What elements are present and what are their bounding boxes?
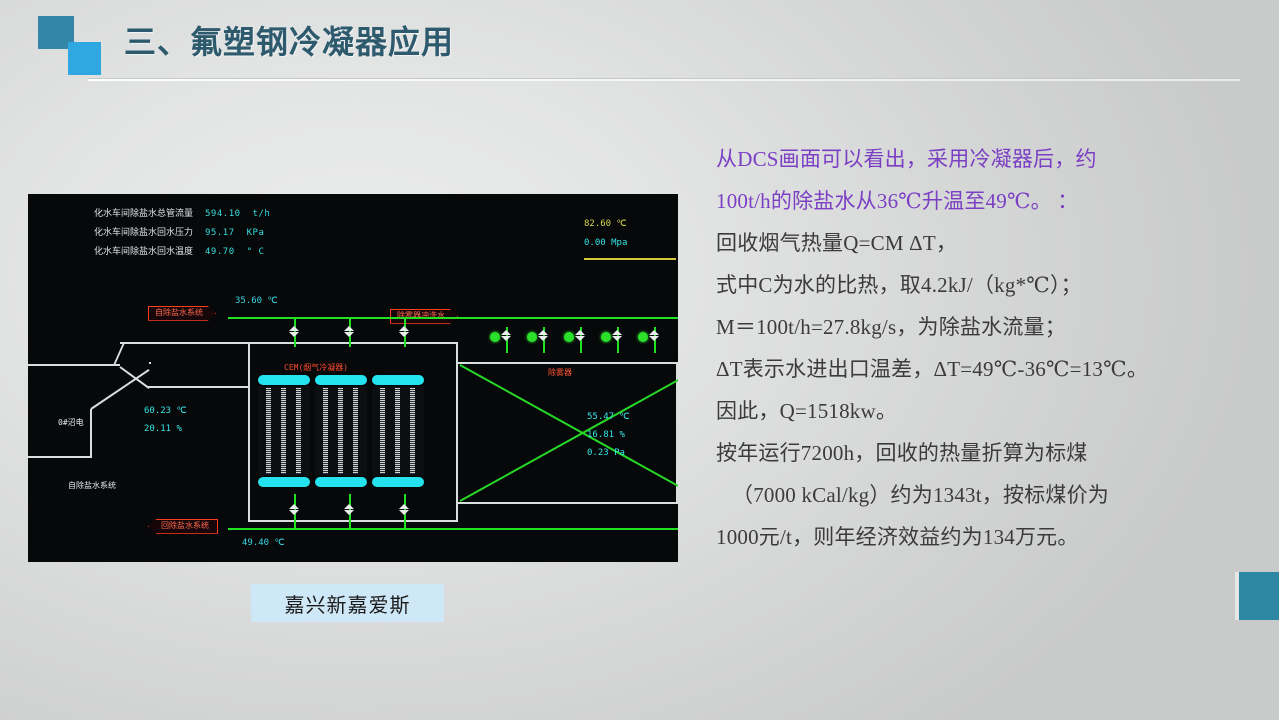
dcs-readout-flow: 化水车间除盐水总管流量 594.10 t/h bbox=[94, 206, 270, 219]
demister-cross-line bbox=[460, 364, 678, 487]
header-divider bbox=[88, 78, 1240, 81]
body-line: ΔT表示水进出口温差，ΔT=49℃-36℃=13℃。 bbox=[716, 348, 1256, 390]
duct-line bbox=[248, 342, 458, 344]
tube-bundle bbox=[372, 386, 424, 476]
image-caption-text: 嘉兴新嘉爱斯 bbox=[285, 589, 411, 618]
dcs-diagram: 化水车间除盐水总管流量 594.10 t/h 化水车间除盐水回水压力 95.17… bbox=[28, 194, 678, 562]
dcs-top-right-pressure: 0.00 Mpa bbox=[584, 239, 627, 248]
valve-icon bbox=[612, 330, 623, 341]
tube-bundle bbox=[258, 386, 310, 476]
dcs-readout-pressure-value: 95.17 bbox=[205, 228, 235, 238]
status-dot-icon bbox=[601, 332, 611, 342]
dcs-readout-pressure-unit: KPa bbox=[247, 228, 265, 238]
dcs-left-percent-unit: % bbox=[177, 424, 182, 434]
demister-cross-line bbox=[460, 379, 678, 502]
dcs-readout-temperature-unit: ° C bbox=[247, 247, 265, 257]
body-line: 式中C为水的比热，取4.2kJ/（kg*℃）； bbox=[716, 264, 1256, 306]
duct-line bbox=[113, 342, 126, 366]
duct-line bbox=[456, 342, 458, 522]
dcs-right-percent: 16.81 % bbox=[587, 431, 625, 440]
body-text-block: 从DCS画面可以看出，采用冷凝器后，约 100t/h的除盐水从36℃升温至49℃… bbox=[716, 138, 1256, 558]
condenser-footer-bar bbox=[372, 477, 424, 487]
body-line: 因此，Q=1518kw。 bbox=[716, 390, 1256, 432]
tag-inlet-from-demin: 自除盐水系统 bbox=[148, 306, 216, 321]
valve-icon bbox=[289, 504, 300, 515]
dcs-left-percent-value: 20.11 bbox=[144, 424, 171, 434]
body-line: M＝100t/h=27.8kg/s，为除盐水流量； bbox=[716, 306, 1256, 348]
status-dot-icon bbox=[490, 332, 500, 342]
duct-line bbox=[28, 364, 120, 366]
valve-icon bbox=[538, 330, 549, 341]
dcs-screenshot-image: 化水车间除盐水总管流量 594.10 t/h 化水车间除盐水回水压力 95.17… bbox=[28, 194, 678, 562]
valve-icon bbox=[399, 326, 410, 337]
dcs-right-pressure-unit: Pa bbox=[614, 448, 625, 458]
valve-icon bbox=[501, 330, 512, 341]
duct-line bbox=[90, 409, 92, 457]
body-line: 回收烟气热量Q=CM ΔT， bbox=[716, 222, 1256, 264]
body-line: 1000元/t，则年经济效益约为134万元。 bbox=[716, 516, 1256, 558]
dcs-right-temp-value: 55.47 bbox=[587, 412, 614, 422]
dcs-top-right-pressure-value: 0.00 bbox=[584, 238, 606, 248]
duct-line bbox=[148, 386, 250, 388]
tag-demister: 除雾器 bbox=[548, 367, 572, 378]
dcs-right-percent-unit: % bbox=[620, 430, 625, 440]
image-caption-box: 嘉兴新嘉爱斯 bbox=[251, 584, 444, 622]
dcs-right-percent-value: 16.81 bbox=[587, 430, 614, 440]
body-line: 从DCS画面可以看出，采用冷凝器后，约 bbox=[716, 138, 1256, 180]
logo-square-light-icon bbox=[68, 42, 101, 75]
dcs-readout-temperature-value: 49.70 bbox=[205, 247, 235, 257]
dcs-readout-temperature-label: 化水车间除盐水回水温度 bbox=[94, 244, 193, 257]
duct-line bbox=[676, 362, 678, 504]
dcs-left-percent: 20.11 % bbox=[144, 425, 182, 434]
condenser-header-bar bbox=[258, 375, 310, 385]
dcs-readout-pressure: 化水车间除盐水回水压力 95.17 KPa bbox=[94, 225, 264, 238]
temp-outlet-bottom: 49.40 ℃ bbox=[242, 539, 285, 548]
dcs-top-right-temp: 82.60 ℃ bbox=[584, 220, 627, 229]
dcs-readout-flow-unit: t/h bbox=[253, 209, 271, 219]
dcs-readout-pressure-label: 化水车间除盐水回水压力 bbox=[94, 225, 193, 238]
valve-icon bbox=[575, 330, 586, 341]
page-title: 三、氟塑钢冷凝器应用 bbox=[124, 17, 454, 63]
condenser-footer-bar bbox=[315, 477, 367, 487]
body-line: 按年运行7200h，回收的热量折算为标煤 bbox=[716, 432, 1256, 474]
valve-icon bbox=[649, 330, 660, 341]
valve-icon bbox=[289, 326, 300, 337]
body-line: （7000 kCal/kg）约为1343t，按标煤价为 bbox=[716, 474, 1256, 516]
tag-return-to-demin: 回除盐水系统 bbox=[148, 519, 218, 534]
dcs-readout-temperature: 化水车间除盐水回水温度 49.70 ° C bbox=[94, 244, 264, 257]
condenser-header-bar bbox=[315, 375, 367, 385]
tube-bundle bbox=[315, 386, 367, 476]
accent-block bbox=[1239, 572, 1279, 620]
valve-icon bbox=[344, 326, 355, 337]
duct-line bbox=[149, 362, 151, 364]
valve-icon bbox=[344, 504, 355, 515]
valve-icon bbox=[399, 504, 410, 515]
status-dot-icon bbox=[527, 332, 537, 342]
dcs-readout-flow-label: 化水车间除盐水总管流量 bbox=[94, 206, 193, 219]
dcs-right-temp: 55.47 ℃ bbox=[587, 413, 630, 422]
condenser-label: CEM(烟气冷凝器) bbox=[284, 362, 348, 373]
dcs-right-pressure: 0.23 Pa bbox=[587, 449, 625, 458]
duct-line bbox=[120, 342, 250, 344]
status-dot-icon bbox=[564, 332, 574, 342]
duct-line bbox=[458, 362, 678, 364]
duct-line bbox=[248, 520, 458, 522]
body-line: 100t/h的除盐水从36℃升温至49℃。 ： bbox=[716, 180, 1256, 222]
dcs-right-temp-unit: ℃ bbox=[620, 412, 630, 422]
dcs-top-right-temp-value: 82.60 bbox=[584, 219, 611, 229]
temp-inlet-top: 35.60 ℃ bbox=[235, 297, 278, 306]
dcs-yellow-bar bbox=[584, 258, 676, 260]
duct-line bbox=[28, 456, 92, 458]
dcs-left-temp: 60.23 ℃ bbox=[144, 407, 187, 416]
logo-mark bbox=[38, 16, 110, 76]
tag-demin-system-left: 自除盐水系统 bbox=[68, 482, 116, 490]
dcs-readout-flow-value: 594.10 bbox=[205, 209, 241, 219]
condenser-footer-bar bbox=[258, 477, 310, 487]
duct-line bbox=[90, 369, 149, 410]
dcs-top-right-temp-unit: ℃ bbox=[617, 219, 627, 229]
slide-header: 三、氟塑钢冷凝器应用 bbox=[0, 0, 1279, 88]
condenser-header-bar bbox=[372, 375, 424, 385]
dcs-left-temp-unit: ℃ bbox=[177, 406, 187, 416]
duct-line bbox=[458, 502, 678, 504]
dcs-left-temp-value: 60.23 bbox=[144, 406, 171, 416]
dcs-right-pressure-value: 0.23 bbox=[587, 448, 609, 458]
status-dot-icon bbox=[638, 332, 648, 342]
duct-line bbox=[248, 342, 250, 522]
tag-boiler: 0#沼电 bbox=[58, 419, 84, 427]
dcs-top-right-pressure-unit: Mpa bbox=[611, 238, 627, 248]
